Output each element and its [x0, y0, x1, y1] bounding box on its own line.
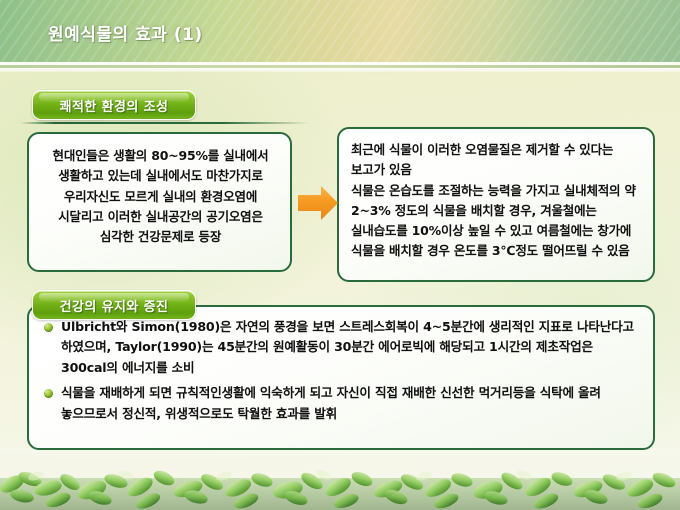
section-badge-health-label: 건강의 유지와 증진 [60, 296, 169, 315]
section-badge-environment: 쾌적한 환경의 조성 [32, 90, 196, 120]
bullet-dot-icon [44, 389, 53, 398]
panel-plant-benefits: 최근에 식물이 이러한 오염물질은 제거할 수 있다는 보고가 있음 식물은 온… [337, 127, 655, 282]
section-badge-health: 건강의 유지와 증진 [32, 290, 196, 320]
panel-plant-benefits-text: 최근에 식물이 이러한 오염물질은 제거할 수 있다는 보고가 있음 식물은 온… [351, 140, 643, 262]
panel-indoor-pollution-text: 현대인들은 생활의 80~95%를 실내에서 생활하고 있는데 실내에서도 마찬… [41, 146, 280, 247]
list-item-text: Ulbricht와 Simon(1980)은 자연의 풍경을 보면 스트레스회복… [61, 319, 634, 375]
list-item: 식물을 재배하게 되면 규칙적인생활에 익숙하게 되고 자신이 직접 재배한 신… [39, 383, 641, 424]
health-bullet-list: Ulbricht와 Simon(1980)은 자연의 풍경을 보면 스트레스회복… [39, 317, 641, 424]
slide-canvas: 원예식물의 효과 (1) 쾌적한 환경의 조성 현대인들은 생활의 80~95%… [0, 0, 680, 510]
section-rule-environment [20, 122, 310, 124]
section-badge-environment-label: 쾌적한 환경의 조성 [60, 96, 169, 115]
leaf-photo-band [0, 448, 680, 510]
bullet-dot-icon [44, 323, 53, 332]
page-title: 원예식물의 효과 (1) [48, 20, 203, 45]
arrow-right-icon [296, 183, 340, 223]
list-item: Ulbricht와 Simon(1980)은 자연의 풍경을 보면 스트레스회복… [39, 317, 641, 378]
list-item-text: 식물을 재배하게 되면 규칙적인생활에 익숙하게 되고 자신이 직접 재배한 신… [61, 385, 601, 420]
panel-indoor-pollution: 현대인들은 생활의 80~95%를 실내에서 생활하고 있는데 실내에서도 마찬… [27, 132, 292, 272]
header-divider-glow [0, 68, 680, 72]
panel-health-benefits: Ulbricht와 Simon(1980)은 자연의 풍경을 보면 스트레스회복… [27, 305, 655, 450]
